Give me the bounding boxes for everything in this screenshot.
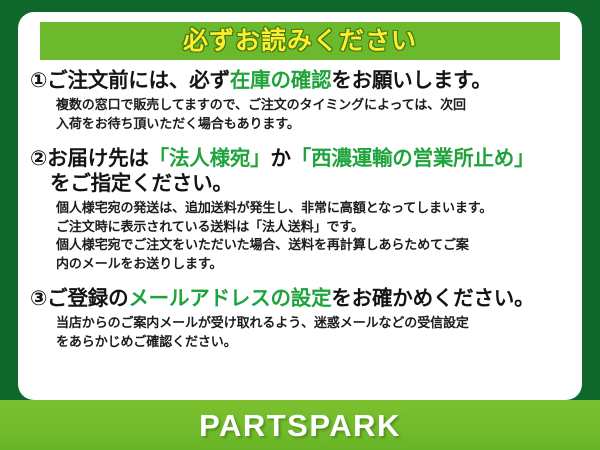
notice-poster: 必ずお読みください ①ご注文前には、必ず在庫の確認をお願いします。 複数の窓口で… bbox=[0, 0, 600, 450]
section-3-body-line-1: 当店からのご案内メールが受け取れるよう、迷惑メールなどの受信設定 bbox=[56, 314, 572, 333]
section-2-body: 個人様宅宛の発送は、追加送料が発生し、非常に高額となってしまいます。 ご注文時に… bbox=[30, 199, 572, 274]
section-3-heading-after: をお確かめください。 bbox=[331, 287, 534, 310]
section-2-heading-highlight: 「法人様宛」 bbox=[149, 147, 271, 170]
section-1-body: 複数の窓口で販売してますので、ご注文のタイミングによっては、次回 入荷をお待ち頂… bbox=[30, 96, 572, 134]
section-3-number: ③ bbox=[30, 287, 47, 310]
section-3-heading: ③ご登録のメールアドレスの設定をお確かめください。 bbox=[30, 286, 572, 311]
section-1-heading-before: ご注文前には、必ず bbox=[47, 69, 230, 92]
notice-content: ①ご注文前には、必ず在庫の確認をお願いします。 複数の窓口で販売してますので、ご… bbox=[18, 68, 582, 357]
notice-section-2: ②お届け先は「法人様宛」か「西濃運輸の営業所止め」 をご指定ください。 個人様宅… bbox=[30, 146, 572, 274]
section-2-body-line-3: 個人様宅宛でご注文をいただいた場合、送料を再計算しあらためてご案 bbox=[56, 236, 572, 255]
section-2-number: ② bbox=[30, 147, 47, 170]
section-1-body-line-2: 入荷をお待ち頂いただく場合もあります。 bbox=[56, 115, 572, 134]
notice-section-3: ③ご登録のメールアドレスの設定をお確かめください。 当店からのご案内メールが受け… bbox=[30, 286, 572, 352]
footer-brand-band: PARTSPARK bbox=[0, 400, 600, 450]
section-1-heading-highlight: 在庫の確認 bbox=[230, 69, 332, 92]
brand-logo-text: PARTSPARK bbox=[199, 410, 401, 441]
section-1-heading: ①ご注文前には、必ず在庫の確認をお願いします。 bbox=[30, 68, 572, 93]
section-3-heading-highlight: メールアドレスの設定 bbox=[128, 287, 331, 310]
section-2-heading-middle: か bbox=[270, 147, 290, 170]
section-1-heading-after: をお願いします。 bbox=[331, 69, 491, 92]
section-3-body-line-2: をあらかじめご確認ください。 bbox=[56, 333, 572, 352]
section-3-body: 当店からのご案内メールが受け取れるよう、迷惑メールなどの受信設定 をあらかじめご… bbox=[30, 314, 572, 352]
title-banner: 必ずお読みください bbox=[40, 22, 560, 60]
notice-section-1: ①ご注文前には、必ず在庫の確認をお願いします。 複数の窓口で販売してますので、ご… bbox=[30, 68, 572, 134]
section-2-heading: ②お届け先は「法人様宛」か「西濃運輸の営業所止め」 bbox=[30, 146, 572, 171]
section-2-body-line-4: 内のメールをお送りします。 bbox=[56, 255, 572, 274]
section-2-heading-before: お届け先は bbox=[47, 147, 149, 170]
section-3-heading-before: ご登録の bbox=[47, 287, 128, 310]
section-1-body-line-1: 複数の窓口で販売してますので、ご注文のタイミングによっては、次回 bbox=[56, 96, 572, 115]
section-2-heading-highlight-2: 「西濃運輸の営業所止め」 bbox=[291, 147, 535, 170]
white-content-panel: 必ずお読みください ①ご注文前には、必ず在庫の確認をお願いします。 複数の窓口で… bbox=[18, 12, 582, 400]
section-2-heading-line-2: をご指定ください。 bbox=[30, 171, 572, 196]
banner-title: 必ずお読みください bbox=[183, 29, 417, 54]
section-2-body-line-2: ご注文時に表示されている送料は「法人送料」です。 bbox=[56, 218, 572, 237]
section-2-body-line-1: 個人様宅宛の発送は、追加送料が発生し、非常に高額となってしまいます。 bbox=[56, 199, 572, 218]
section-1-number: ① bbox=[30, 69, 47, 92]
